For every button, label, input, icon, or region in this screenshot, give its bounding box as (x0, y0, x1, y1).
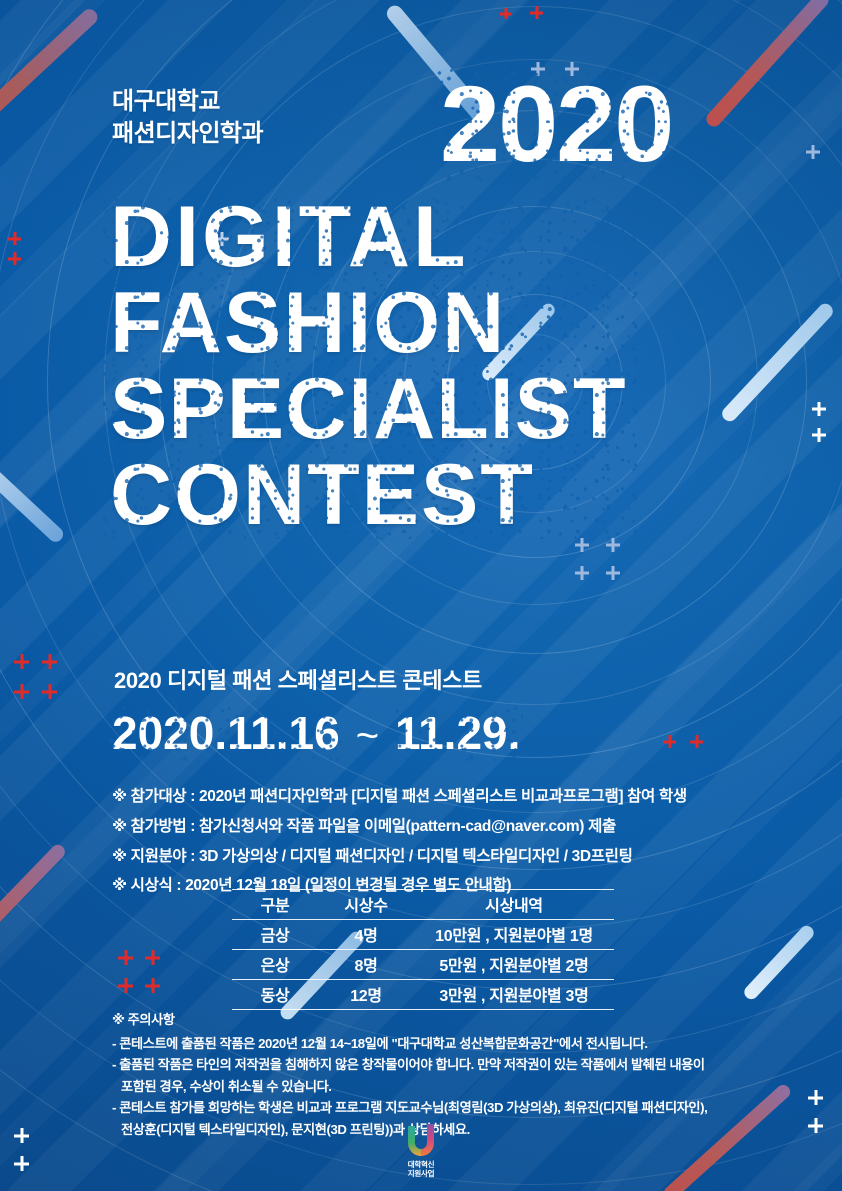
table-header-category: 구분 (232, 890, 318, 920)
award-silver-name: 은상 (232, 950, 318, 980)
logo-caption-line1: 대학혁신 (408, 1160, 434, 1169)
logo-caption: 대학혁신 지원사업 (408, 1160, 434, 1178)
award-gold-name: 금상 (232, 920, 318, 950)
award-gold-count: 4명 (318, 920, 414, 950)
table-header-row: 구분 시상수 시상내역 (232, 890, 614, 920)
event-dates: 2020.11.16~11.29. (112, 706, 520, 760)
table-row: 은상 8명 5만원 , 지원분야별 2명 (232, 950, 614, 980)
note-advisors: - 콘테스트 참가를 희망하는 학생은 비교과 프로그램 지도교수님(최영림(3… (112, 1097, 782, 1119)
title-line-fashion: FASHION (110, 284, 627, 364)
main-title: DIGITAL FASHION SPECIALIST CONTEST (110, 198, 627, 542)
table-header-count: 시상수 (318, 890, 414, 920)
notes-section: ※ 주의사항 - 콘테스트에 출품된 작품은 2020년 12월 14~18일에… (112, 1009, 782, 1140)
university-name: 대구대학교 (112, 88, 220, 115)
logo-caption-line2: 지원사업 (408, 1169, 434, 1178)
university-innovation-u-icon (406, 1124, 436, 1158)
bullet-categories: ※ 지원분야 : 3D 가상의상 / 디지털 패션디자인 / 디지털 텍스타일디… (112, 842, 687, 872)
note-exhibition: - 콘테스트에 출품된 작품은 2020년 12월 14~18일에 "대구대학교… (112, 1033, 782, 1055)
title-line-contest: CONTEST (110, 456, 627, 536)
year-text: 2020 (440, 70, 672, 178)
bullet-how-to-apply: ※ 참가방법 : 참가신청서와 작품 파일을 이메일(pattern-cad@n… (112, 812, 687, 842)
table-header-details: 시상내역 (414, 890, 614, 920)
university-department: 대구대학교 패션디자인학과 (112, 86, 263, 149)
date-separator: ~ (340, 714, 395, 758)
awards-table: 구분 시상수 시상내역 금상 4명 10만원 , 지원분야별 1명 은상 8명 … (232, 889, 614, 1010)
poster-root: 대구대학교 패션디자인학과 2020 DIGITAL FASHION SPECI… (0, 0, 842, 1191)
poster-content: 대구대학교 패션디자인학과 2020 DIGITAL FASHION SPECI… (0, 0, 842, 1191)
title-line-digital: DIGITAL (110, 198, 627, 278)
bullet-participants: ※ 참가대상 : 2020년 패션디자인학과 [디지털 패션 스페셜리스트 비교… (112, 782, 687, 812)
award-bronze-count: 12명 (318, 980, 414, 1010)
award-gold-details: 10만원 , 지원분야별 1명 (414, 920, 614, 950)
date-start: 2020.11.16 (112, 706, 340, 760)
department-name: 패션디자인학과 (112, 120, 263, 147)
award-bronze-details: 3만원 , 지원분야별 3명 (414, 980, 614, 1010)
award-silver-count: 8명 (318, 950, 414, 980)
subtitle-korean: 2020 디지털 패션 스페셜리스트 콘테스트 (114, 663, 482, 695)
notes-heading: ※ 주의사항 (112, 1009, 782, 1031)
award-silver-details: 5만원 , 지원분야별 2명 (414, 950, 614, 980)
title-line-specialist: SPECIALIST (110, 370, 627, 450)
info-bullet-list: ※ 참가대상 : 2020년 패션디자인학과 [디지털 패션 스페셜리스트 비교… (112, 782, 687, 901)
year-heading: 2020 (440, 70, 672, 178)
table-row: 동상 12명 3만원 , 지원분야별 3명 (232, 980, 614, 1010)
date-end: 11.29. (395, 706, 520, 760)
table-row: 금상 4명 10만원 , 지원분야별 1명 (232, 920, 614, 950)
footer-logo: 대학혁신 지원사업 (0, 1124, 842, 1178)
note-copyright-cont: 포함된 경우, 수상이 취소될 수 있습니다. (112, 1076, 782, 1098)
award-bronze-name: 동상 (232, 980, 318, 1010)
note-copyright: - 출품된 작품은 타인의 저작권을 침해하지 않은 창작물이어야 합니다. 만… (112, 1054, 782, 1076)
